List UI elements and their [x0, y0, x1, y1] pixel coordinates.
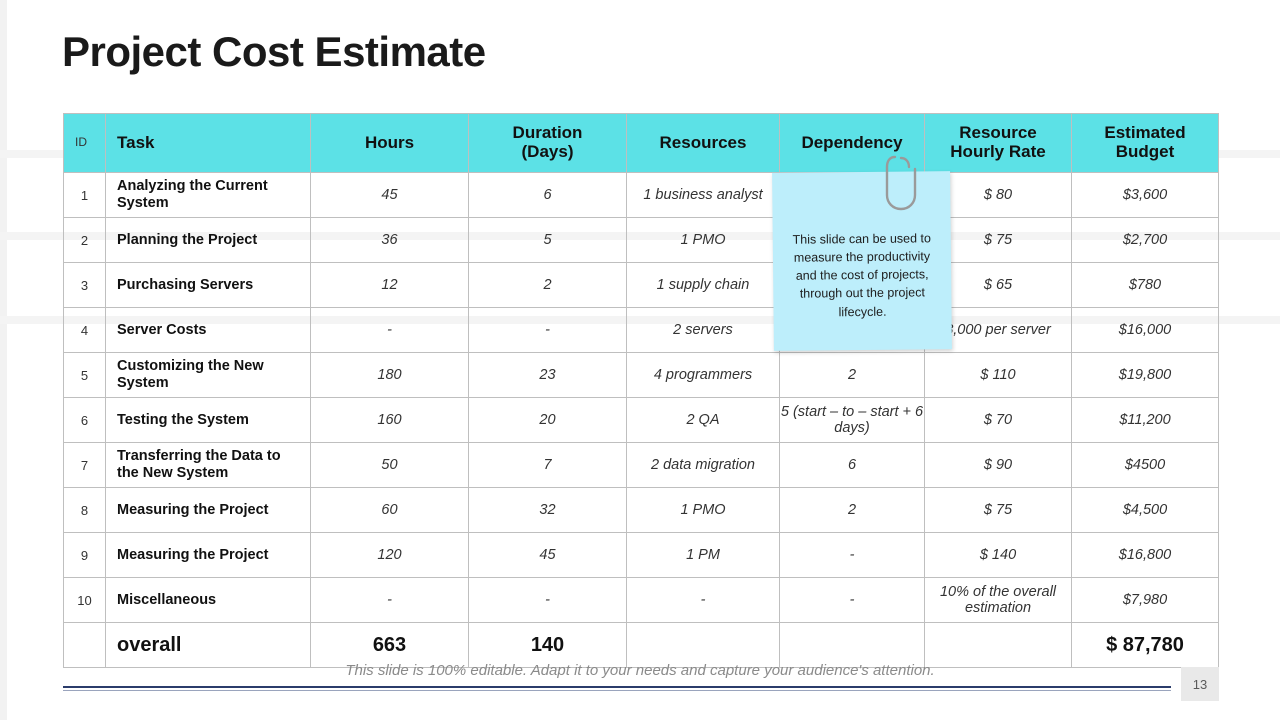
footer-note: This slide is 100% editable. Adapt it to…: [0, 662, 1280, 679]
header-budget-line1: Estimated: [1072, 124, 1218, 143]
cell-id: 2: [64, 218, 106, 263]
cell-hours: 36: [311, 218, 469, 263]
table-row: 7 Transferring the Data to the New Syste…: [64, 443, 1219, 488]
cell-hours: 50: [311, 443, 469, 488]
cell-id: 6: [64, 398, 106, 443]
header-estimated-budget: Estimated Budget: [1072, 114, 1219, 173]
header-id: ID: [64, 114, 106, 173]
cost-estimate-table-container: ID Task Hours Duration (Days) Resources …: [63, 113, 1218, 668]
table-row: 3 Purchasing Servers 12 2 1 supply chain…: [64, 263, 1219, 308]
cell-duration: 7: [469, 443, 627, 488]
cell-resources: 4 programmers: [627, 353, 780, 398]
cell-task: Customizing the New System: [106, 353, 311, 398]
cell-id: 9: [64, 533, 106, 578]
cell-id: 1: [64, 173, 106, 218]
cell-id: 8: [64, 488, 106, 533]
cell-resources: 1 PMO: [627, 218, 780, 263]
header-budget-line2: Budget: [1072, 143, 1218, 162]
page-title: Project Cost Estimate: [62, 28, 486, 76]
table-row: 10 Miscellaneous - - - - 10% of the over…: [64, 578, 1219, 623]
header-resource-hourly-rate: Resource Hourly Rate: [925, 114, 1072, 173]
cell-task: Purchasing Servers: [106, 263, 311, 308]
table-row: 9 Measuring the Project 120 45 1 PM - $ …: [64, 533, 1219, 578]
cell-resources: 2 servers: [627, 308, 780, 353]
cell-hours: 12: [311, 263, 469, 308]
cell-hours: -: [311, 578, 469, 623]
cell-rate: $ 110: [925, 353, 1072, 398]
cell-id: 4: [64, 308, 106, 353]
cell-total-resources: [627, 623, 780, 668]
left-edge-accent: [0, 0, 14, 720]
cell-total-dependency: [780, 623, 925, 668]
cell-task: Server Costs: [106, 308, 311, 353]
cell-budget: $4,500: [1072, 488, 1219, 533]
cell-rate: 10% of the overall estimation: [925, 578, 1072, 623]
cell-resources: 1 business analyst: [627, 173, 780, 218]
header-rate-line2: Hourly Rate: [925, 143, 1071, 162]
cell-duration: 6: [469, 173, 627, 218]
table-row: 2 Planning the Project 36 5 1 PMO $ 75 $…: [64, 218, 1219, 263]
cell-task: Transferring the Data to the New System: [106, 443, 311, 488]
cell-duration: 20: [469, 398, 627, 443]
table-row: 6 Testing the System 160 20 2 QA 5 (star…: [64, 398, 1219, 443]
cell-budget: $11,200: [1072, 398, 1219, 443]
cell-id: 10: [64, 578, 106, 623]
header-rate-line1: Resource: [925, 124, 1071, 143]
table-row: 4 Server Costs - - 2 servers 8,000 per s…: [64, 308, 1219, 353]
cell-duration: 2: [469, 263, 627, 308]
cell-resources: -: [627, 578, 780, 623]
cell-total-rate: [925, 623, 1072, 668]
table-row: 8 Measuring the Project 60 32 1 PMO 2 $ …: [64, 488, 1219, 533]
table-row: 5 Customizing the New System 180 23 4 pr…: [64, 353, 1219, 398]
cell-dependency: 2: [780, 488, 925, 533]
table-total-row: overall 663 140 $ 87,780: [64, 623, 1219, 668]
cell-budget: $16,000: [1072, 308, 1219, 353]
cell-duration: -: [469, 578, 627, 623]
cell-resources: 2 QA: [627, 398, 780, 443]
cell-dependency: 2: [780, 353, 925, 398]
header-duration-line2: (Days): [469, 143, 626, 162]
paperclip-icon: [885, 155, 919, 213]
cell-dependency: -: [780, 578, 925, 623]
cell-duration: -: [469, 308, 627, 353]
cell-total-duration: 140: [469, 623, 627, 668]
cell-budget: $7,980: [1072, 578, 1219, 623]
cell-task: Planning the Project: [106, 218, 311, 263]
cell-total-budget: $ 87,780: [1072, 623, 1219, 668]
footer-divider-secondary: [63, 690, 1171, 691]
cell-rate: $ 140: [925, 533, 1072, 578]
table-header: ID Task Hours Duration (Days) Resources …: [64, 114, 1219, 173]
cell-hours: -: [311, 308, 469, 353]
page-number-badge: 13: [1181, 667, 1219, 701]
cell-dependency: -: [780, 533, 925, 578]
cell-hours: 120: [311, 533, 469, 578]
cell-budget: $780: [1072, 263, 1219, 308]
cell-total-label: overall: [106, 623, 311, 668]
cell-rate: $ 75: [925, 488, 1072, 533]
cell-id: 3: [64, 263, 106, 308]
cell-total-hours: 663: [311, 623, 469, 668]
cell-duration: 45: [469, 533, 627, 578]
cell-task: Miscellaneous: [106, 578, 311, 623]
cell-id: 7: [64, 443, 106, 488]
header-resources: Resources: [627, 114, 780, 173]
header-duration: Duration (Days): [469, 114, 627, 173]
cell-task: Analyzing the Current System: [106, 173, 311, 218]
cell-resources: 1 PMO: [627, 488, 780, 533]
cell-total-id: [64, 623, 106, 668]
cell-dependency: 6: [780, 443, 925, 488]
cell-hours: 180: [311, 353, 469, 398]
cell-budget: $3,600: [1072, 173, 1219, 218]
cell-budget: $16,800: [1072, 533, 1219, 578]
sticky-note-text: This slide can be used to measure the pr…: [787, 229, 938, 321]
cell-duration: 32: [469, 488, 627, 533]
header-duration-line1: Duration: [469, 124, 626, 143]
cell-duration: 23: [469, 353, 627, 398]
cost-estimate-table: ID Task Hours Duration (Days) Resources …: [63, 113, 1219, 668]
cell-resources: 2 data migration: [627, 443, 780, 488]
cell-budget: $4500: [1072, 443, 1219, 488]
table-body: 1 Analyzing the Current System 45 6 1 bu…: [64, 173, 1219, 668]
right-edge-accent: [1272, 0, 1280, 720]
table-row: 1 Analyzing the Current System 45 6 1 bu…: [64, 173, 1219, 218]
sticky-note[interactable]: This slide can be used to measure the pr…: [772, 171, 952, 351]
cell-budget: $2,700: [1072, 218, 1219, 263]
cell-budget: $19,800: [1072, 353, 1219, 398]
cell-rate: $ 70: [925, 398, 1072, 443]
cell-hours: 60: [311, 488, 469, 533]
cell-hours: 160: [311, 398, 469, 443]
header-task: Task: [106, 114, 311, 173]
cell-task: Measuring the Project: [106, 533, 311, 578]
cell-id: 5: [64, 353, 106, 398]
cell-hours: 45: [311, 173, 469, 218]
footer-divider: [63, 686, 1171, 688]
cell-task: Measuring the Project: [106, 488, 311, 533]
cell-resources: 1 supply chain: [627, 263, 780, 308]
cell-resources: 1 PM: [627, 533, 780, 578]
cell-task: Testing the System: [106, 398, 311, 443]
header-hours: Hours: [311, 114, 469, 173]
cell-duration: 5: [469, 218, 627, 263]
table-header-row: ID Task Hours Duration (Days) Resources …: [64, 114, 1219, 173]
cell-dependency: 5 (start – to – start + 6 days): [780, 398, 925, 443]
cell-rate: $ 90: [925, 443, 1072, 488]
